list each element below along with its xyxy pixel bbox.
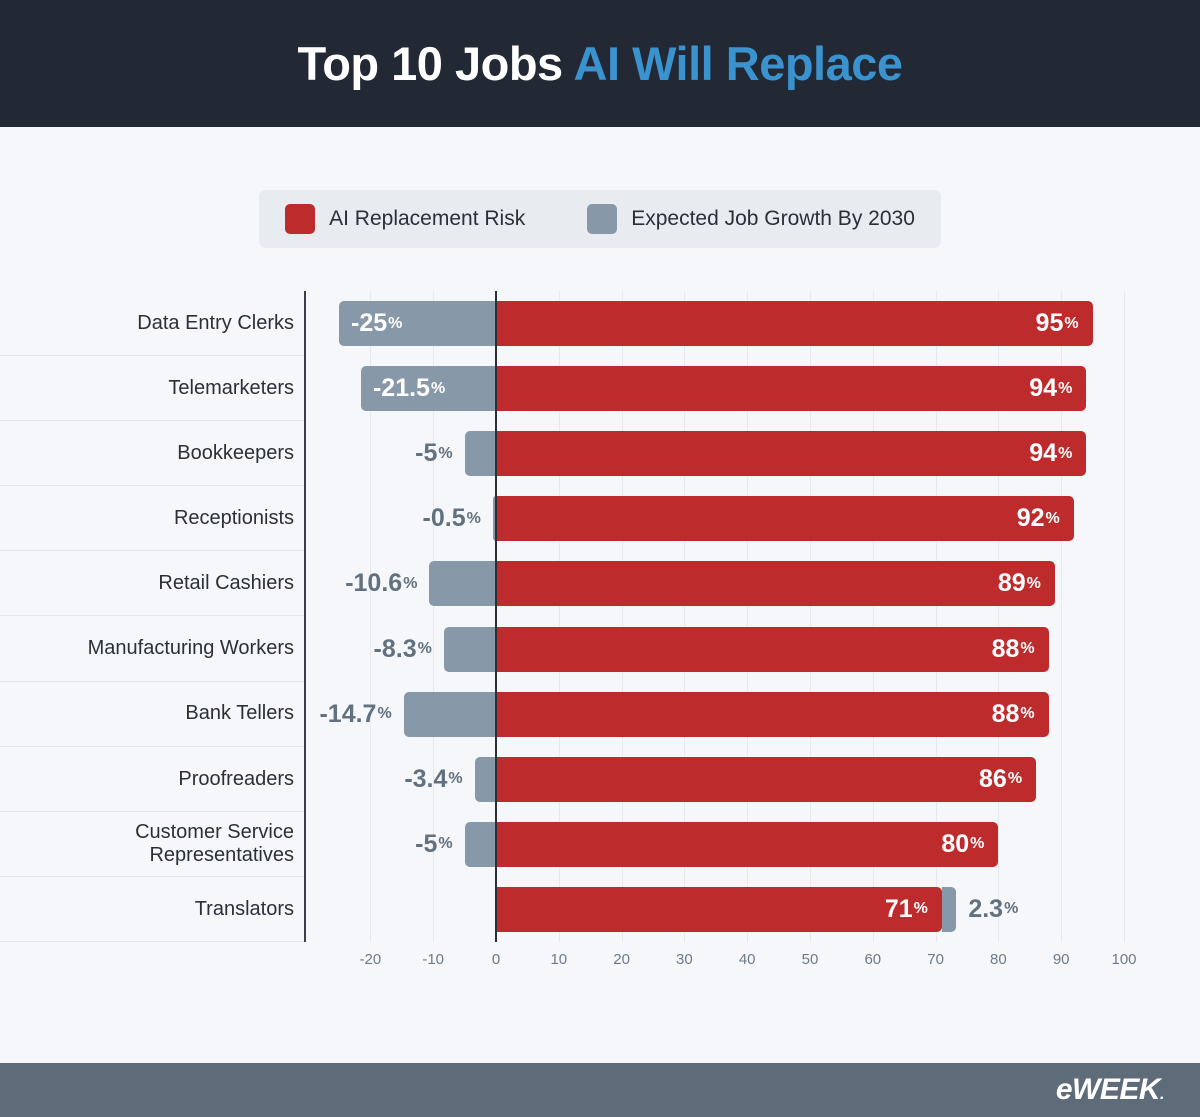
bar-value-number: 95	[1036, 309, 1064, 338]
category-label: Translators	[195, 898, 294, 920]
chart-bar-row[interactable]: 88%-14.7%	[306, 682, 1200, 747]
x-axis-tick-label: 90	[1053, 951, 1070, 968]
percent-sign: %	[1020, 705, 1034, 723]
category-row: Translators	[0, 877, 304, 942]
bar-value-label-growth: -10.6%	[317, 561, 417, 606]
chart-bar-row[interactable]: 92%-0.5%	[306, 486, 1200, 551]
percent-sign: %	[914, 900, 928, 918]
category-row: Retail Cashiers	[0, 551, 304, 616]
bar-expected-job-growth[interactable]	[465, 822, 496, 867]
percent-sign: %	[1058, 445, 1072, 463]
bar-value-number: 80	[941, 830, 969, 859]
bar-expected-job-growth[interactable]	[404, 692, 496, 737]
plot-area: 95%-25%94%-21.5%94%-5%92%-0.5%89%-10.6%8…	[306, 291, 1200, 942]
bar-ai-replacement-risk[interactable]	[496, 627, 1049, 672]
percent-sign: %	[448, 770, 462, 788]
category-row: Proofreaders	[0, 747, 304, 812]
category-label: Receptionists	[174, 507, 294, 529]
zero-axis-line	[495, 291, 497, 942]
bar-expected-job-growth[interactable]	[444, 627, 496, 672]
percent-sign: %	[1020, 640, 1034, 658]
percent-sign: %	[970, 835, 984, 853]
bar-value-number: 92	[1017, 504, 1045, 533]
bar-value-number: -8.3	[374, 635, 417, 664]
x-axis-tick-label: 40	[739, 951, 756, 968]
bar-value-label-growth: -5%	[353, 822, 453, 867]
category-label: Data Entry Clerks	[137, 312, 294, 334]
category-axis: Data Entry ClerksTelemarketersBookkeeper…	[0, 291, 306, 942]
percent-sign: %	[388, 315, 402, 333]
page-title-plain: Top 10 Jobs	[297, 37, 573, 90]
logo-dot: .	[1160, 1086, 1164, 1103]
bar-value-number: -10.6	[345, 569, 402, 598]
category-row: Receptionists	[0, 486, 304, 551]
percent-sign: %	[431, 380, 445, 398]
page-footer: eWEEK.	[0, 1063, 1200, 1117]
bar-value-number: 88	[992, 700, 1020, 729]
bar-ai-replacement-risk[interactable]	[496, 757, 1036, 802]
percent-sign: %	[467, 510, 481, 528]
category-label: Retail Cashiers	[158, 572, 294, 594]
legend-swatch-risk	[285, 204, 315, 234]
legend-container: AI Replacement RiskExpected Job Growth B…	[0, 190, 1200, 248]
chart-bar-row[interactable]: 80%-5%	[306, 812, 1200, 877]
bar-value-label-growth: -21.5%	[373, 366, 445, 411]
legend-item[interactable]: AI Replacement Risk	[285, 204, 525, 234]
category-row: Manufacturing Workers	[0, 616, 304, 681]
chart-bar-row[interactable]: 94%-5%	[306, 421, 1200, 486]
bar-ai-replacement-risk[interactable]	[496, 366, 1086, 411]
bar-value-number: -5	[415, 830, 437, 859]
chart-bar-row[interactable]: 95%-25%	[306, 291, 1200, 356]
percent-sign: %	[438, 445, 452, 463]
bar-value-number: -5	[415, 439, 437, 468]
bar-value-label-growth: -14.7%	[292, 692, 392, 737]
bar-value-number: 71	[885, 895, 913, 924]
category-label: Proofreaders	[178, 768, 294, 790]
percent-sign: %	[377, 705, 391, 723]
bar-value-label-risk: 88%	[989, 692, 1035, 737]
bar-ai-replacement-risk[interactable]	[496, 496, 1074, 541]
page-title: Top 10 Jobs AI Will Replace	[297, 36, 902, 91]
bar-value-label-risk: 92%	[1014, 496, 1060, 541]
page-header: Top 10 Jobs AI Will Replace	[0, 0, 1200, 127]
bar-value-number: 86	[979, 765, 1007, 794]
bar-ai-replacement-risk[interactable]	[496, 431, 1086, 476]
x-axis-tick-label: -10	[422, 951, 444, 968]
category-label: Customer Service Representatives	[0, 821, 294, 866]
bar-expected-job-growth[interactable]	[942, 887, 956, 932]
bar-ai-replacement-risk[interactable]	[496, 301, 1093, 346]
bar-ai-replacement-risk[interactable]	[496, 887, 942, 932]
x-axis-tick-label: 70	[927, 951, 944, 968]
legend-item[interactable]: Expected Job Growth By 2030	[587, 204, 915, 234]
percent-sign: %	[1064, 315, 1078, 333]
legend-item-label: Expected Job Growth By 2030	[631, 207, 915, 231]
bar-value-label-risk: 89%	[995, 561, 1041, 606]
bar-value-label-growth: -3.4%	[363, 757, 463, 802]
percent-sign: %	[1008, 770, 1022, 788]
bar-value-number: 94	[1029, 439, 1057, 468]
bar-value-number: -0.5	[423, 504, 466, 533]
bar-value-number: 89	[998, 569, 1026, 598]
logo-week: WEEK	[1072, 1073, 1160, 1106]
x-axis-tick-label: 50	[802, 951, 819, 968]
chart-bar-row[interactable]: 88%-8.3%	[306, 617, 1200, 682]
bar-value-label-growth: 2.3%	[968, 887, 1018, 932]
eweek-logo: eWEEK.	[1056, 1073, 1164, 1107]
chart-bar-row[interactable]: 71%2.3%	[306, 877, 1200, 942]
chart-bar-row[interactable]: 89%-10.6%	[306, 551, 1200, 616]
bar-value-label-risk: 80%	[938, 822, 984, 867]
x-axis-tick-label: 80	[990, 951, 1007, 968]
category-row: Bookkeepers	[0, 421, 304, 486]
bar-value-label-risk: 71%	[882, 887, 928, 932]
percent-sign: %	[1004, 900, 1018, 918]
category-row: Customer Service Representatives	[0, 812, 304, 877]
bar-value-label-risk: 88%	[989, 627, 1035, 672]
bar-value-label-growth: -5%	[353, 431, 453, 476]
percent-sign: %	[1058, 380, 1072, 398]
x-axis-tick-label: 0	[492, 951, 500, 968]
category-row: Data Entry Clerks	[0, 291, 304, 356]
bar-value-label-risk: 94%	[1026, 366, 1072, 411]
percent-sign: %	[438, 835, 452, 853]
category-label: Bookkeepers	[177, 442, 294, 464]
category-row: Telemarketers	[0, 356, 304, 421]
category-label: Telemarketers	[168, 377, 294, 399]
bar-value-number: -21.5	[373, 374, 430, 403]
chart-area: Data Entry ClerksTelemarketersBookkeeper…	[0, 291, 1200, 951]
x-axis-tick-label: -20	[360, 951, 382, 968]
logo-e: e	[1056, 1073, 1072, 1106]
legend-swatch-growth	[587, 204, 617, 234]
bar-value-label-risk: 86%	[976, 757, 1022, 802]
x-axis-tick-label: 30	[676, 951, 693, 968]
chart-bar-row[interactable]: 86%-3.4%	[306, 747, 1200, 812]
bar-value-label-growth: -25%	[351, 301, 402, 346]
category-label: Bank Tellers	[185, 702, 294, 724]
page-title-accent: AI Will Replace	[574, 37, 903, 90]
bar-value-number: -25	[351, 309, 387, 338]
bar-ai-replacement-risk[interactable]	[496, 692, 1049, 737]
legend-item-label: AI Replacement Risk	[329, 207, 525, 231]
x-axis-tick-label: 10	[550, 951, 567, 968]
bar-ai-replacement-risk[interactable]	[496, 561, 1055, 606]
x-axis-tick-label: 20	[613, 951, 630, 968]
bar-value-label-risk: 94%	[1026, 431, 1072, 476]
bar-value-number: 88	[992, 635, 1020, 664]
chart-bar-row[interactable]: 94%-21.5%	[306, 356, 1200, 421]
bar-value-label-growth: -8.3%	[332, 627, 432, 672]
category-label: Manufacturing Workers	[88, 637, 294, 659]
bar-expected-job-growth[interactable]	[429, 561, 496, 606]
percent-sign: %	[1046, 510, 1060, 528]
chart-legend: AI Replacement RiskExpected Job Growth B…	[259, 190, 941, 248]
bar-value-number: 94	[1029, 374, 1057, 403]
x-axis-tick-label: 60	[864, 951, 881, 968]
bar-expected-job-growth[interactable]	[465, 431, 496, 476]
category-row: Bank Tellers	[0, 682, 304, 747]
x-axis-tick-label: 100	[1111, 951, 1136, 968]
percent-sign: %	[1027, 575, 1041, 593]
bar-value-number: -3.4	[404, 765, 447, 794]
bar-value-number: 2.3	[968, 895, 1003, 924]
bar-value-label-growth: -0.5%	[381, 496, 481, 541]
bar-ai-replacement-risk[interactable]	[496, 822, 998, 867]
x-axis: -20-100102030405060708090100	[306, 951, 1200, 981]
bar-value-number: -14.7	[319, 700, 376, 729]
percent-sign: %	[418, 640, 432, 658]
bar-expected-job-growth[interactable]	[475, 757, 496, 802]
bar-value-label-risk: 95%	[1033, 301, 1079, 346]
percent-sign: %	[403, 575, 417, 593]
